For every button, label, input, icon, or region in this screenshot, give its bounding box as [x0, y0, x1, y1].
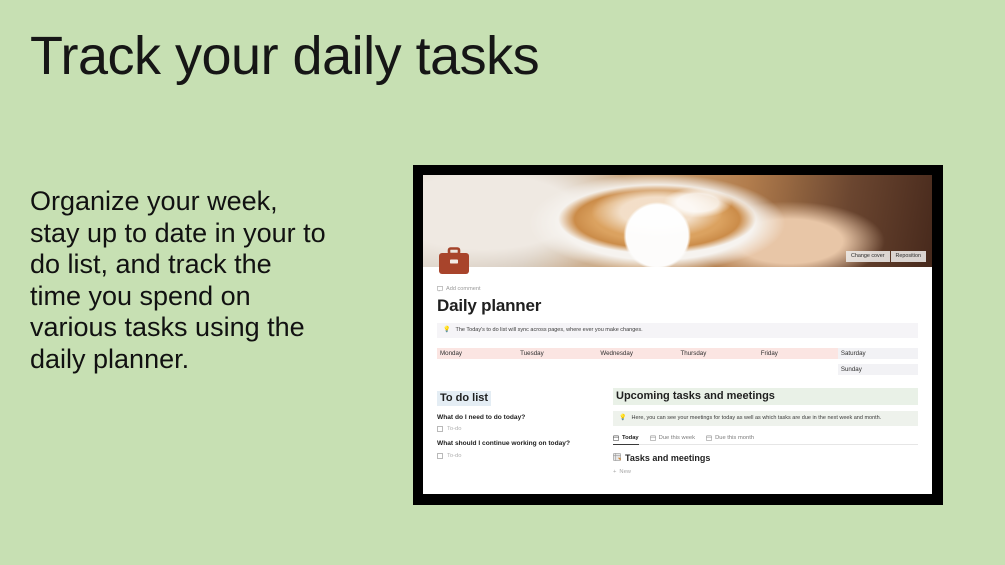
week-col-weekend[interactable]: Saturday Sunday: [838, 348, 918, 375]
tasks-and-meetings-label: Tasks and meetings: [625, 453, 710, 463]
page-body: Add comment Daily planner 💡 The Today's …: [423, 286, 932, 475]
body-paragraph: Organize your week, stay up to date in y…: [30, 186, 330, 375]
weekday-tuesday: Tuesday: [517, 348, 597, 359]
app-screenshot-frame: Change cover Reposition: [413, 165, 943, 505]
weekday-thursday: Thursday: [678, 348, 758, 359]
todo-item-1-label: To-do: [447, 426, 462, 432]
reposition-button[interactable]: Reposition: [891, 251, 926, 262]
weekday-wednesday: Wednesday: [597, 348, 677, 359]
weekday-sunday: Sunday: [838, 364, 918, 375]
todo-list-title: To do list: [437, 391, 491, 406]
cover-actions: Change cover Reposition: [846, 251, 926, 262]
lightbulb-icon: 💡: [443, 327, 450, 333]
upcoming-title: Upcoming tasks and meetings: [613, 388, 918, 405]
add-comment-label: Add comment: [446, 286, 481, 292]
table-list-icon: [613, 453, 621, 463]
week-col-friday[interactable]: Friday: [758, 348, 838, 375]
sync-callout: 💡 The Today's to do list will sync acros…: [437, 323, 918, 338]
document-title[interactable]: Daily planner: [437, 296, 918, 316]
comment-icon: [437, 286, 443, 292]
tab-today[interactable]: Today: [613, 435, 639, 441]
plus-icon: +: [613, 469, 616, 475]
tab-due-this-week-label: Due this week: [659, 435, 695, 441]
checkbox-icon[interactable]: [437, 453, 443, 459]
briefcase-icon[interactable]: [438, 247, 470, 275]
week-strip: Monday Tuesday Wednesday Thursday Friday: [437, 348, 918, 375]
week-col-monday[interactable]: Monday: [437, 348, 517, 375]
new-item-label: New: [619, 469, 631, 475]
upcoming-column: Upcoming tasks and meetings 💡 Here, you …: [613, 388, 918, 475]
todo-question-2: What should I continue working on today?: [437, 440, 595, 449]
upcoming-callout-text: Here, you can see your meetings for toda…: [631, 415, 881, 422]
filter-tabs: Today Due this week: [613, 435, 918, 445]
weekday-monday: Monday: [437, 348, 517, 359]
tab-due-this-month-label: Due this month: [715, 435, 754, 441]
calendar-icon: [613, 435, 619, 441]
lightbulb-icon: 💡: [619, 415, 626, 421]
checkbox-icon[interactable]: [437, 426, 443, 432]
week-col-tuesday[interactable]: Tuesday: [517, 348, 597, 375]
todo-item-2-label: To-do: [447, 453, 462, 459]
new-item-button[interactable]: + New: [613, 469, 918, 475]
add-comment-row[interactable]: Add comment: [437, 286, 918, 292]
upcoming-callout: 💡 Here, you can see your meetings for to…: [613, 411, 918, 426]
change-cover-button[interactable]: Change cover: [846, 251, 890, 262]
calendar-icon: [706, 435, 712, 441]
tab-due-this-month[interactable]: Due this month: [706, 435, 754, 441]
sync-callout-text: The Today's to do list will sync across …: [455, 327, 642, 334]
week-col-wednesday[interactable]: Wednesday: [597, 348, 677, 375]
todo-column: To do list What do I need to do today? T…: [437, 388, 595, 475]
weekday-saturday: Saturday: [838, 348, 918, 359]
todo-item-1[interactable]: To-do: [437, 426, 595, 432]
todo-item-2[interactable]: To-do: [437, 453, 595, 459]
week-col-thursday[interactable]: Thursday: [678, 348, 758, 375]
tab-due-this-week[interactable]: Due this week: [650, 435, 695, 441]
slide: Track your daily tasks Organize your wee…: [0, 0, 1005, 565]
calendar-icon: [650, 435, 656, 441]
tab-today-label: Today: [622, 435, 639, 441]
content-columns: To do list What do I need to do today? T…: [437, 388, 918, 475]
todo-question-1: What do I need to do today?: [437, 414, 595, 423]
tasks-and-meetings-header: Tasks and meetings: [613, 453, 918, 463]
cover-photo: Change cover Reposition: [423, 175, 932, 267]
page-title: Track your daily tasks: [30, 28, 539, 85]
app-screenshot: Change cover Reposition: [423, 175, 932, 494]
weekday-friday: Friday: [758, 348, 838, 359]
